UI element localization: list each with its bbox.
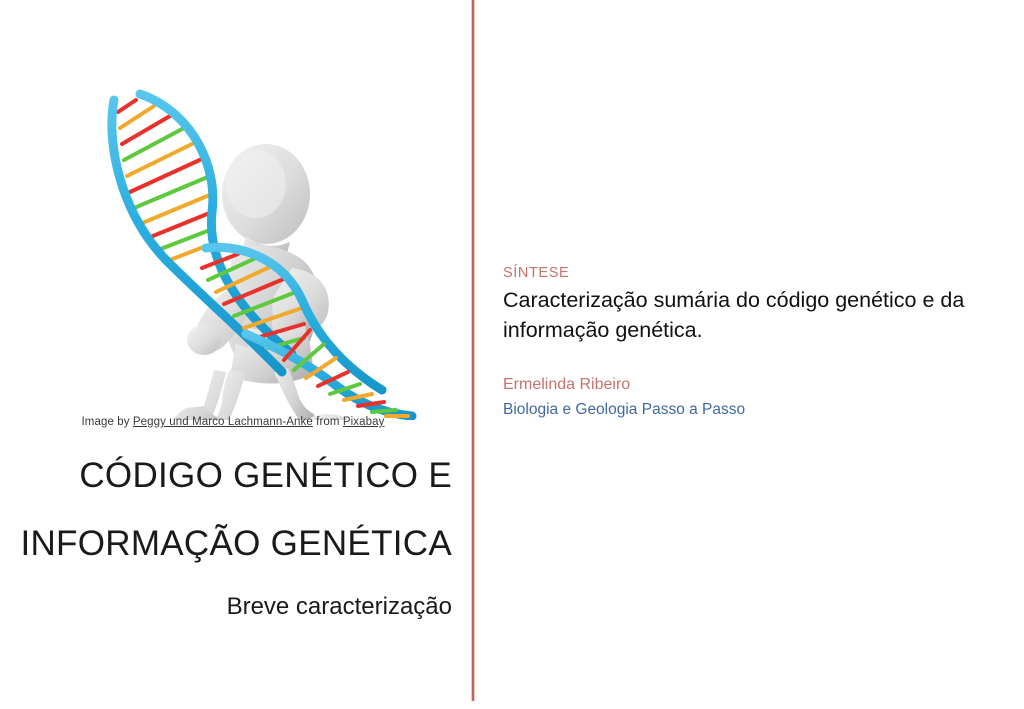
attribution-middle: from — [313, 416, 343, 428]
section-kicker: SÍNTESE — [503, 265, 569, 281]
page-subtitle: Breve caracterização — [0, 592, 452, 622]
page-title-line-2: INFORMAÇÃO GENÉTICA — [0, 510, 452, 578]
author-name: Ermelinda Ribeiro — [503, 375, 630, 395]
dna-helix-with-figure-illustration — [96, 72, 432, 420]
attribution-prefix: Image by — [81, 416, 132, 428]
slide-title-block: CÓDIGO GENÉTICO E INFORMAÇÃO GENÉTICA Br… — [0, 442, 452, 622]
attribution-author-link[interactable]: Peggy und Marco Lachmann-Anke — [133, 416, 313, 428]
left-panel: Image by Peggy und Marco Lachmann-Anke f… — [0, 0, 466, 709]
page-title-line-1: CÓDIGO GENÉTICO E — [0, 442, 452, 510]
right-panel: SÍNTESE Caracterização sumária do código… — [503, 0, 1018, 709]
slide-canvas: Image by Peggy und Marco Lachmann-Anke f… — [0, 0, 1024, 709]
vertical-divider — [471, 0, 475, 701]
attribution-source-link[interactable]: Pixabay — [343, 416, 385, 428]
organization-name: Biologia e Geologia Passo a Passo — [503, 400, 745, 420]
summary-text: Caracterização sumária do código genétic… — [503, 285, 1017, 345]
image-attribution: Image by Peggy und Marco Lachmann-Anke f… — [0, 416, 466, 428]
